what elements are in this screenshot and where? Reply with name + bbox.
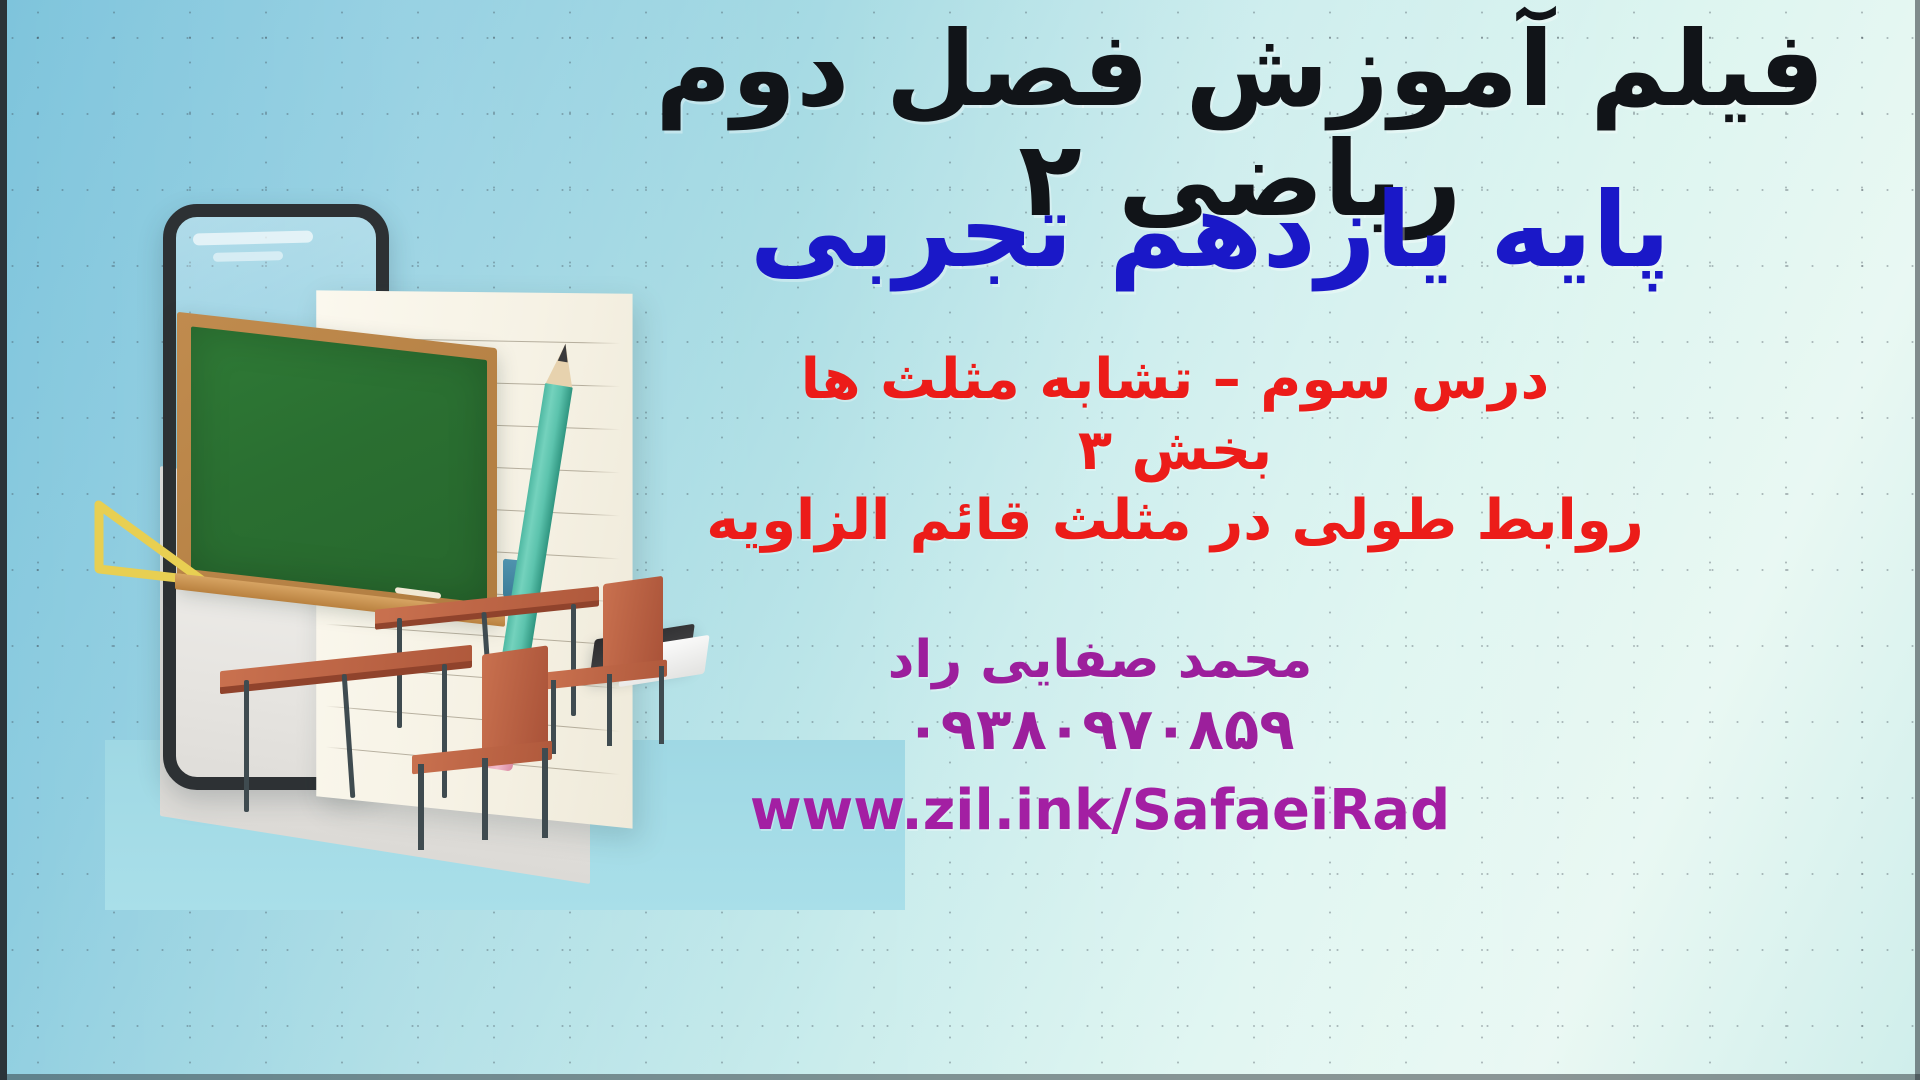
lesson-line-1: درس سوم – تشابه مثلث ها	[610, 345, 1740, 416]
website-url[interactable]: www.zil.ink/SafaeiRad	[610, 778, 1590, 844]
chalkboard	[177, 312, 497, 620]
lesson-details: درس سوم – تشابه مثلث ها بخش ۳ روابط طولی…	[610, 345, 1740, 557]
left-border	[0, 0, 7, 1080]
page-title-line-2: پایه یازدهم تجربی	[620, 175, 1800, 285]
tablet-glare-highlight-small	[213, 251, 283, 262]
bottom-border	[0, 1074, 1920, 1080]
lesson-line-3: روابط طولی در مثلث قائم الزاویه	[610, 486, 1740, 557]
credits-block: محمد صفایی راد ۰۹۳۸۰۹۷۰۸۵۹ www.zil.ink/S…	[610, 630, 1590, 844]
right-border	[1915, 0, 1920, 1080]
chalkboard-surface	[191, 326, 487, 603]
video-title-card: فیلم آموزش فصل دوم ریاضی ۲ پایه یازدهم ت…	[0, 0, 1920, 1080]
contact-phone: ۰۹۳۸۰۹۷۰۸۵۹	[610, 695, 1590, 763]
instructor-name: محمد صفایی راد	[610, 630, 1590, 691]
chair-front	[390, 650, 590, 850]
lesson-line-2: بخش ۳	[610, 416, 1740, 487]
